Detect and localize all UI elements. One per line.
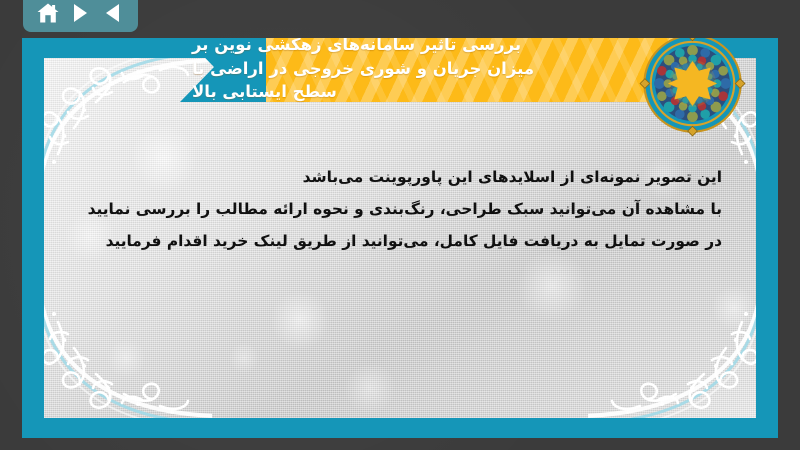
body-line: با مشاهده آن می‌توانید سبک طراحی، رنگ‌بن…	[74, 194, 722, 226]
slide-viewer: این تصویر نمونه‌ای از اسلایدهای این پاور…	[0, 0, 800, 450]
next-slide-button[interactable]	[68, 0, 94, 26]
slide-body-text: این تصویر نمونه‌ای از اسلایدهای این پاور…	[74, 162, 722, 258]
arabesque-corner-icon	[44, 290, 212, 418]
triangle-left-icon	[106, 4, 119, 22]
slide-navigation-bar	[23, 0, 138, 32]
title-line: میزان جریان و شوری خروجی در اراضی با	[192, 57, 534, 81]
home-button[interactable]	[35, 0, 61, 26]
home-icon	[36, 2, 60, 24]
body-line: این تصویر نمونه‌ای از اسلایدهای این پاور…	[74, 162, 722, 194]
persian-rosette-medallion-icon	[639, 38, 746, 137]
page-title: بررسی تأثیر سامانه‌های زهکشی نوین بر میز…	[180, 38, 700, 102]
body-line: در صورت تمایل به دریافت فایل کامل، می‌تو…	[74, 226, 722, 258]
title-line: سطح ایستابی بالا	[192, 80, 337, 104]
previous-slide-button[interactable]	[100, 0, 126, 26]
slide-title-banner: بررسی تأثیر سامانه‌های زهکشی نوین بر میز…	[180, 38, 700, 102]
title-line: بررسی تأثیر سامانه‌های زهکشی نوین بر	[192, 38, 521, 57]
triangle-right-icon	[74, 4, 87, 22]
arabesque-corner-icon	[588, 290, 756, 418]
presentation-slide: این تصویر نمونه‌ای از اسلایدهای این پاور…	[22, 38, 778, 438]
